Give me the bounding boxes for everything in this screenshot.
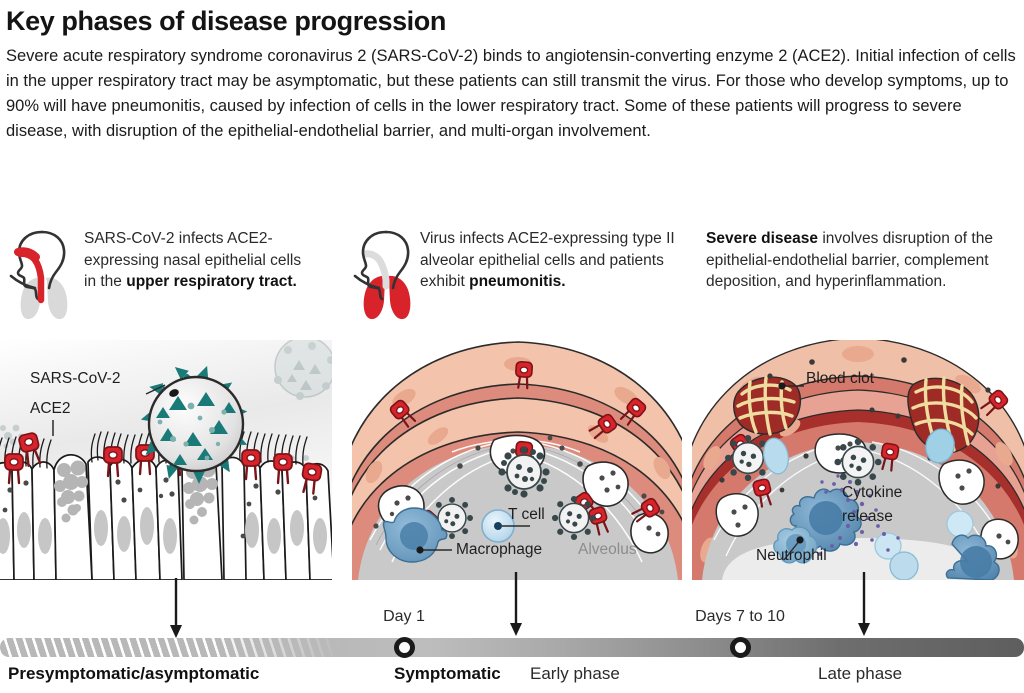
caption-emphasis: pneumonitis. [469, 273, 565, 290]
timeline-marker-day-1[interactable] [394, 637, 415, 658]
phase-arrow-3 [857, 572, 871, 638]
phase-arrow-2 [509, 572, 523, 638]
timeline-segment-late-phase: Late phase [818, 664, 902, 684]
timeline-marker-days-7-to-10[interactable] [730, 637, 751, 658]
illustration-upper-respiratory [0, 340, 332, 580]
timeline-hatched-region [0, 638, 340, 657]
caption-emphasis: Severe disease [706, 230, 818, 247]
timeline-segment-symptomatic: Symptomatic [394, 664, 501, 684]
infographic-root: Key phases of disease progression Severe… [0, 0, 1024, 693]
head-lungs-icon [352, 226, 422, 322]
intro-paragraph: Severe acute respiratory syndrome corona… [6, 44, 1018, 144]
phase-caption-severe-disease: Severe disease involves disruption of th… [706, 228, 1018, 293]
timeline-segment-early-phase: Early phase [530, 664, 620, 684]
phase-caption-upper-respiratory: SARS-CoV-2 infects ACE2-expressing nasal… [84, 228, 314, 293]
timeline-marker-label-day-1: Day 1 [383, 608, 425, 626]
illustration-severe-disease [692, 340, 1024, 580]
phase-caption-pneumonitis: Virus infects ACE2-expressing type II al… [420, 228, 682, 293]
illustration-pneumonitis [352, 340, 682, 580]
phase-arrow-1 [169, 578, 183, 640]
caption-emphasis: upper respiratory tract. [126, 273, 297, 290]
head-nasal-icon [8, 226, 78, 322]
timeline-marker-label-days-7-to-10: Days 7 to 10 [695, 608, 785, 626]
page-title: Key phases of disease progression [6, 6, 446, 37]
timeline-segment-presymptomatic: Presymptomatic/asymptomatic [8, 664, 259, 684]
